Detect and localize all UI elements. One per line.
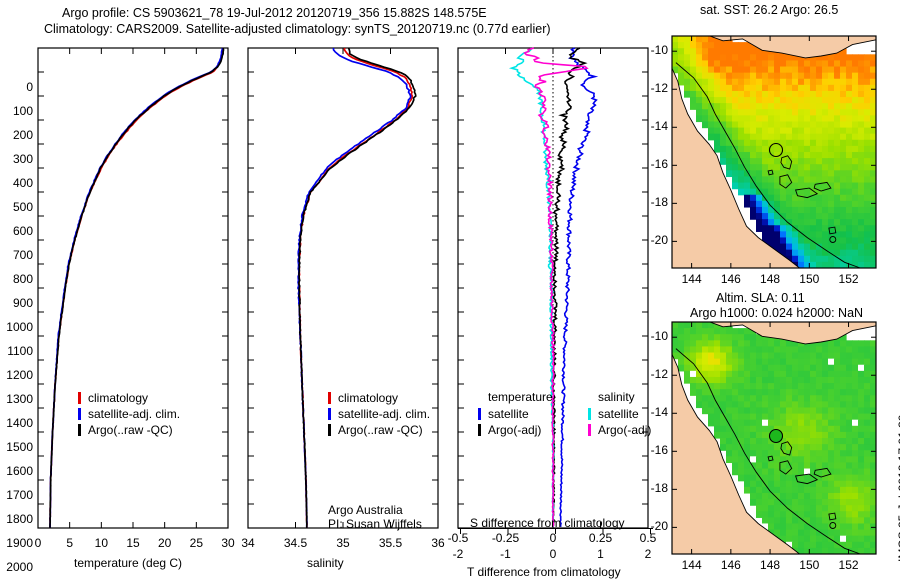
- legend-swatch: [328, 392, 331, 404]
- figure-title-line2: Climatology: CARS2009. Satellite-adjuste…: [44, 22, 551, 36]
- map-sst: 144146148150152 -10-12-14-16-18-20: [664, 30, 884, 280]
- legend-label: Argo(..raw -QC): [338, 423, 423, 437]
- temperature-axes: [38, 48, 228, 528]
- map-sla: 144146148150152 -10-12-14-16-18-20: [664, 316, 884, 566]
- map-sla-title-line1: Altim. SLA: 0.11: [716, 291, 805, 305]
- legend-label: satellite: [488, 407, 529, 421]
- legend-column: temperaturesatelliteArgo(-adj): [478, 390, 566, 438]
- legend-item: Argo(-adj): [478, 422, 566, 438]
- legend-item: satellite-adj. clim.: [328, 406, 430, 422]
- sst-raster: [672, 32, 877, 268]
- legend-item: climatology: [328, 390, 430, 406]
- legend-swatch: [78, 392, 81, 404]
- legend-swatch: [78, 424, 81, 436]
- legend-label: Argo(-adj): [488, 423, 541, 437]
- legend-item: climatology: [78, 390, 180, 406]
- legend-label: climatology: [338, 391, 398, 405]
- panel-temperature: 0100200300400500600700800900100011001200…: [0, 40, 240, 540]
- map-sst-title: sat. SST: 26.2 Argo: 26.5: [700, 3, 838, 17]
- legend-item: Argo(..raw -QC): [328, 422, 430, 438]
- map-sst-canvas: [664, 30, 884, 280]
- temperature-axis-label: temperature (deg C): [74, 556, 182, 570]
- salinity-axes: [248, 48, 438, 528]
- legend-item: satellite-adj. clim.: [78, 406, 180, 422]
- credit-text-wrap: IMOS 25-Jul-2012 17:01:30: [896, 562, 900, 576]
- salinity-annotation-line1: Argo Australia: [328, 503, 403, 517]
- difference-plot: [420, 40, 660, 540]
- legend-label: satellite-adj. clim.: [88, 407, 180, 421]
- salinity-axis-label: salinity: [307, 556, 344, 570]
- legend-label: satellite: [598, 407, 639, 421]
- legend-swatch: [478, 408, 481, 420]
- legend-column-header: temperature: [488, 390, 566, 406]
- legend-swatch: [478, 424, 481, 436]
- legend-item: Argo(..raw -QC): [78, 422, 180, 438]
- temperature-legend: climatologysatellite-adj. clim.Argo(..ra…: [78, 390, 180, 438]
- legend-label: Argo(..raw -QC): [88, 423, 173, 437]
- salinity-legend: climatologysatellite-adj. clim.Argo(..ra…: [328, 390, 430, 438]
- legend-swatch: [328, 424, 331, 436]
- legend-swatch: [78, 408, 81, 420]
- difference-salinity-axis-label: S difference from climatology: [470, 516, 625, 530]
- panel-salinity: 3434.53535.536: [210, 40, 450, 540]
- legend-swatch: [328, 408, 331, 420]
- map-sla-canvas: [664, 316, 884, 566]
- legend-swatch: [588, 408, 591, 420]
- panel-difference: [420, 40, 660, 540]
- legend-label: climatology: [88, 391, 148, 405]
- legend-item: Argo(-adj): [588, 422, 676, 438]
- difference-temperature-axis-label: T difference from climatology: [467, 565, 621, 579]
- legend-swatch: [588, 424, 591, 436]
- salinity-plot: [210, 40, 450, 540]
- figure-title-line1: Argo profile: CS 5903621_78 19-Jul-2012 …: [62, 6, 487, 20]
- salinity-annotation-line2: PI: Susan Wijffels: [328, 517, 422, 531]
- legend-item: satellite: [478, 406, 566, 422]
- sla-profile-marker: [770, 430, 783, 443]
- temperature-plot: [0, 40, 240, 540]
- legend-label: Argo(-adj): [598, 423, 651, 437]
- legend-label: satellite-adj. clim.: [338, 407, 430, 421]
- credit-text: IMOS 25-Jul-2012 17:01:30: [896, 415, 900, 562]
- figure-root: Argo profile: CS 5903621_78 19-Jul-2012 …: [0, 0, 900, 580]
